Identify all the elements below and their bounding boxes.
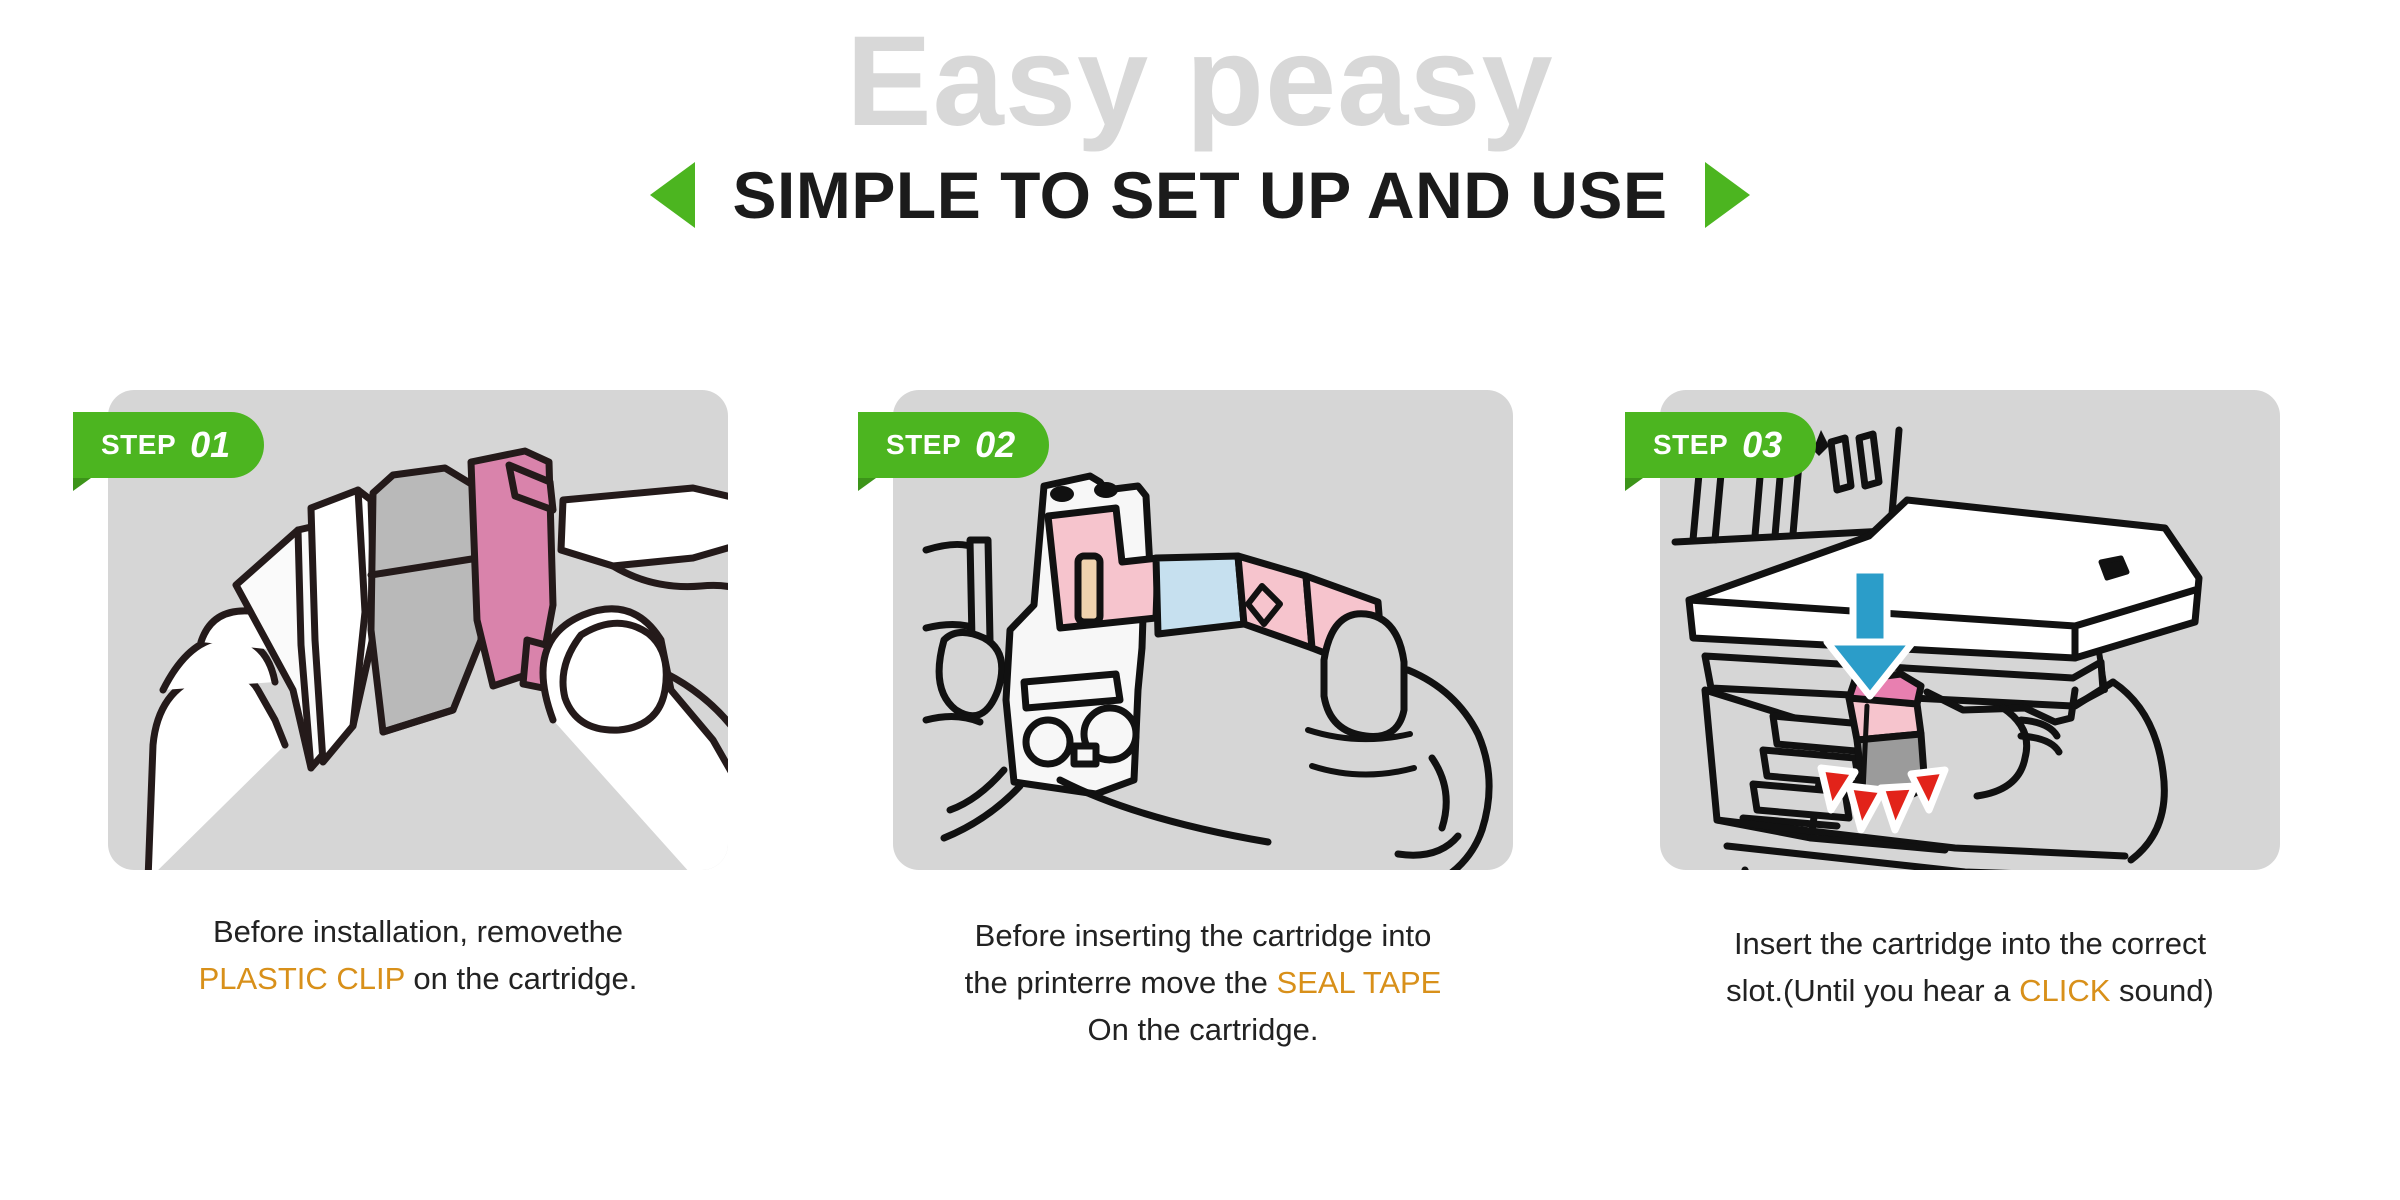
page-title: SIMPLE TO SET UP AND USE [733,162,1668,228]
badge-fold-icon [1625,478,1643,491]
step-3-badge: STEP 03 [1625,412,1816,478]
step-1-badge-label: STEP [101,431,176,459]
step-2-badge: STEP 02 [858,412,1049,478]
caption-text: on the cartridge. [405,961,638,996]
caption-line: On the cartridge. [873,1006,1533,1053]
step-panel-2: STEP 02 [893,390,1513,870]
caption-text: slot.(Until you hear a [1726,973,2019,1008]
step-2-illustration-card: STEP 02 [893,390,1513,870]
step-panel-3: STEP 03 [1660,390,2280,870]
caption-line: Insert the cartridge into the correct [1640,920,2300,967]
step-1-caption: Before installation, removethe PLASTIC C… [88,908,748,1002]
step-3-badge-number: 03 [1742,427,1782,463]
caption-highlight: SEAL TAPE [1277,965,1442,1000]
step-panel-1: STEP 01 [108,390,728,870]
step-3-badge-label: STEP [1653,431,1728,459]
step-1-badge-number: 01 [190,427,230,463]
subtitle-row: SIMPLE TO SET UP AND USE [0,162,2400,228]
step-3-caption: Insert the cartridge into the correct sl… [1640,920,2300,1014]
step-2-badge-label: STEP [886,431,961,459]
step-2-caption: Before inserting the cartridge into the … [873,912,1533,1053]
caption-line: the printerre move the SEAL TAPE [873,959,1533,1006]
step-1-illustration-card: STEP 01 [108,390,728,870]
page-ghost-title: Easy peasy [0,18,2400,146]
caption-text: Insert the cartridge into the correct [1734,926,2206,961]
step-2-badge-number: 02 [975,427,1015,463]
caption-highlight: PLASTIC CLIP [199,961,405,996]
caption-line: Before inserting the cartridge into [873,912,1533,959]
caption-line: slot.(Until you hear a CLICK sound) [1640,967,2300,1014]
caption-text: Before installation, removethe [213,914,623,949]
caption-text: sound) [2110,973,2213,1008]
triangle-left-icon [650,162,695,228]
caption-line: PLASTIC CLIP on the cartridge. [88,955,748,1002]
step-3-illustration-card: STEP 03 [1660,390,2280,870]
caption-text: the printerre move the [965,965,1277,1000]
caption-line: Before installation, removethe [88,908,748,955]
badge-fold-icon [858,478,876,491]
step-1-badge: STEP 01 [73,412,264,478]
badge-fold-icon [73,478,91,491]
caption-highlight: CLICK [2019,973,2110,1008]
caption-text: On the cartridge. [1088,1012,1319,1047]
caption-text: Before inserting the cartridge into [975,918,1432,953]
triangle-right-icon [1705,162,1750,228]
header: Easy peasy SIMPLE TO SET UP AND USE [0,0,2400,260]
